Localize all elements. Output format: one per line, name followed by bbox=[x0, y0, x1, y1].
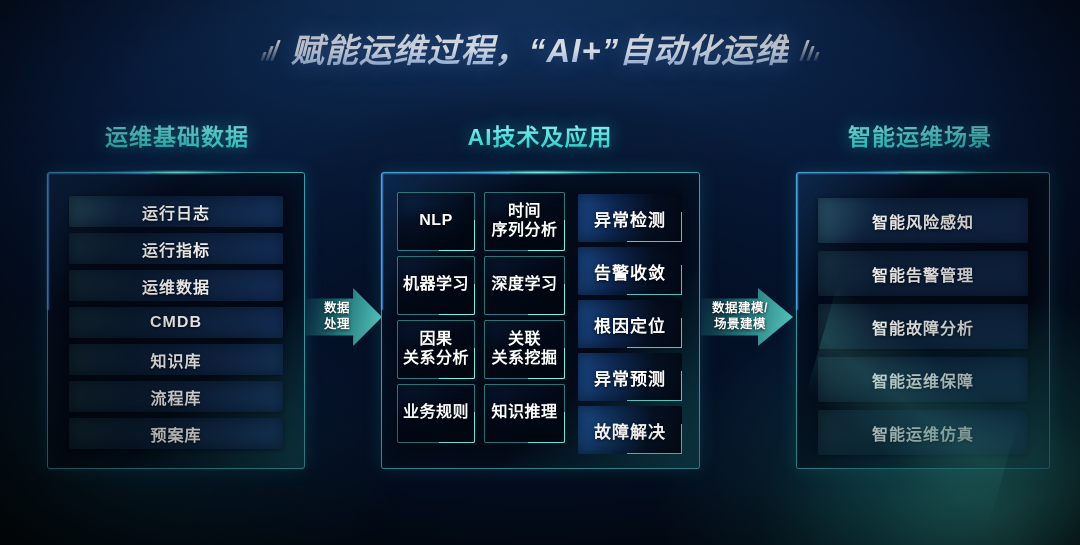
outcome-bar-label: 告警收敛 bbox=[594, 259, 666, 284]
title-deco-right-icon bbox=[803, 35, 818, 61]
list-item-label: 智能运维保障 bbox=[872, 368, 974, 392]
list-item[interactable]: 智能运维保障 bbox=[818, 357, 1028, 402]
tech-box-line1: 业务规则 bbox=[403, 404, 469, 421]
tech-box[interactable]: 时间 序列分析 bbox=[484, 192, 565, 251]
tech-box-line2: 关系挖掘 bbox=[491, 350, 557, 367]
tech-box-line2: 关系分析 bbox=[403, 350, 469, 367]
list-item[interactable]: CMDB bbox=[69, 307, 283, 338]
flow-arrow-line2: 处理 bbox=[324, 317, 350, 331]
slide-canvas: 赋能运维过程，“AI+”自动化运维 运维基础数据 运行日志 运行指标 运维数据 … bbox=[0, 0, 1080, 545]
tech-box[interactable]: 机器学习 bbox=[397, 256, 475, 315]
list-item-label: 运行日志 bbox=[142, 200, 210, 224]
list-item[interactable]: 运维数据 bbox=[69, 270, 283, 301]
list-item[interactable]: 预案库 bbox=[69, 418, 283, 449]
tech-box-line1: 时间 bbox=[508, 203, 541, 220]
flow-arrow-line1: 数据建模/ bbox=[712, 301, 768, 315]
tech-box-line1: NLP bbox=[419, 212, 453, 229]
tech-box[interactable]: 因果 关系分析 bbox=[397, 320, 475, 379]
tech-box-label: NLP bbox=[419, 212, 453, 231]
list-item[interactable]: 智能运维仿真 bbox=[818, 410, 1028, 455]
column-title-middle: AI技术及应用 bbox=[405, 118, 675, 152]
page-title: 赋能运维过程，“AI+”自动化运维 bbox=[291, 24, 789, 72]
list-item[interactable]: 流程库 bbox=[69, 381, 283, 412]
tech-box-line1: 因果 bbox=[419, 331, 452, 348]
outcome-bar[interactable]: 异常预测 bbox=[578, 353, 682, 401]
tech-box-label: 机器学习 bbox=[403, 276, 469, 295]
tech-box-label: 时间 序列分析 bbox=[491, 203, 557, 241]
outcome-bar-label: 根因定位 bbox=[594, 312, 666, 337]
tech-box-line1: 机器学习 bbox=[403, 276, 469, 293]
list-item[interactable]: 知识库 bbox=[69, 344, 283, 375]
tech-box-label: 因果 关系分析 bbox=[403, 331, 469, 369]
tech-box-label: 知识推理 bbox=[491, 404, 557, 423]
list-item-label: 智能告警管理 bbox=[872, 262, 974, 286]
list-item-label: 智能运维仿真 bbox=[872, 421, 974, 445]
list-item[interactable]: 运行指标 bbox=[69, 233, 283, 264]
outcome-bar-label: 故障解决 bbox=[594, 418, 666, 443]
tech-box[interactable]: 知识推理 bbox=[484, 384, 565, 443]
outcome-bar[interactable]: 异常检测 bbox=[578, 194, 682, 242]
outcome-bar[interactable]: 告警收敛 bbox=[578, 247, 682, 295]
tech-box-line1: 深度学习 bbox=[491, 276, 557, 293]
list-item-label: 智能风险感知 bbox=[872, 209, 974, 233]
flow-arrow-modeling: 数据建模/ 场景建模 bbox=[701, 288, 793, 346]
list-item[interactable]: 智能故障分析 bbox=[818, 304, 1028, 349]
column-title-right: 智能运维场景 bbox=[795, 118, 1045, 152]
flow-arrow-label: 数据 处理 bbox=[324, 301, 364, 332]
flow-arrow-data-processing: 数据 处理 bbox=[306, 288, 382, 346]
flow-arrow-label: 数据建模/ 场景建模 bbox=[712, 301, 782, 332]
list-item-label: 智能故障分析 bbox=[872, 315, 974, 339]
list-item[interactable]: 智能风险感知 bbox=[818, 198, 1028, 243]
list-item-label: 运维数据 bbox=[142, 274, 210, 298]
outcome-bar-label: 异常预测 bbox=[594, 365, 666, 390]
tech-box-line1: 关联 bbox=[508, 331, 541, 348]
flow-arrow-line1: 数据 bbox=[324, 301, 350, 315]
tech-box[interactable]: 深度学习 bbox=[484, 256, 565, 315]
list-item-label: 知识库 bbox=[150, 348, 201, 372]
slide-title-bar: 赋能运维过程，“AI+”自动化运维 bbox=[0, 24, 1080, 72]
tech-box-label: 深度学习 bbox=[491, 276, 557, 295]
tech-box-label: 业务规则 bbox=[403, 404, 469, 423]
outcome-bar[interactable]: 故障解决 bbox=[578, 406, 682, 454]
tech-box-line2: 序列分析 bbox=[491, 222, 557, 239]
list-item-label: 运行指标 bbox=[142, 237, 210, 261]
list-item-label: 预案库 bbox=[150, 422, 201, 446]
list-item[interactable]: 运行日志 bbox=[69, 196, 283, 227]
outcome-bar[interactable]: 根因定位 bbox=[578, 300, 682, 348]
tech-box[interactable]: 关联 关系挖掘 bbox=[484, 320, 565, 379]
outcome-bar-label: 异常检测 bbox=[594, 206, 666, 231]
list-item-label: CMDB bbox=[150, 314, 202, 332]
tech-box[interactable]: 业务规则 bbox=[397, 384, 475, 443]
tech-box-line1: 知识推理 bbox=[491, 404, 557, 421]
list-item-label: 流程库 bbox=[150, 385, 201, 409]
list-item[interactable]: 智能告警管理 bbox=[818, 251, 1028, 296]
tech-box-label: 关联 关系挖掘 bbox=[491, 331, 557, 369]
title-deco-left-icon bbox=[262, 35, 277, 61]
tech-box[interactable]: NLP bbox=[397, 192, 475, 251]
flow-arrow-line2: 场景建模 bbox=[714, 317, 766, 331]
column-title-left: 运维基础数据 bbox=[42, 118, 312, 152]
